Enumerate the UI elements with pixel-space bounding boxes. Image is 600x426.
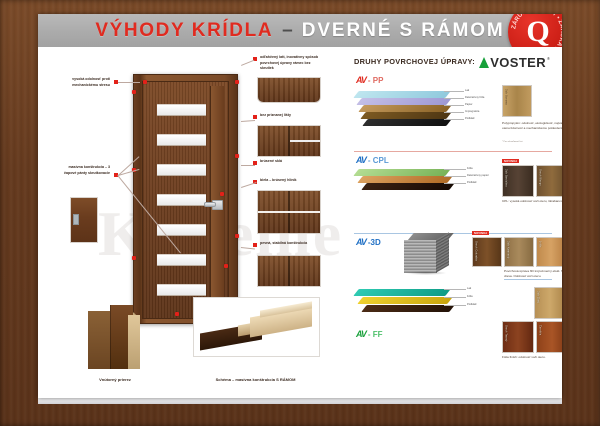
annotation-right-3: brúsené sklá (260, 159, 322, 165)
leader-line (241, 247, 255, 249)
section-description-3d: Povrchová úprava 3D trojrozmerný efekt. … (504, 269, 562, 279)
glass-slat (157, 254, 206, 266)
callout-dot (235, 154, 239, 158)
section-description-pp: Polypropylén: odolnosť, ekologickosť, na… (502, 121, 562, 131)
layer-cpl-1 (357, 176, 452, 183)
callout-dot (132, 90, 136, 94)
layer-pp-0 (353, 91, 450, 98)
leader-line (241, 182, 257, 188)
door-handle (204, 200, 221, 208)
section-divider-pp (354, 151, 552, 152)
block-3d-side (436, 232, 449, 273)
swatch-cpl-1[interactable]: Orech Wenge (536, 165, 562, 197)
section-divider-3d (504, 279, 552, 280)
swatch-3d-1[interactable]: Dub Kamenný (504, 237, 534, 267)
av-mark-ff: AV (356, 329, 366, 339)
layer-pp-2 (358, 105, 451, 112)
annotation-bullet (253, 115, 257, 119)
av-mark-3d: AV (356, 237, 366, 247)
detail-thumbnail-aluminium (257, 190, 321, 234)
section-description-ff: Fólia finish: odolnosť voči oteru. (502, 355, 562, 360)
schema-illustration (193, 297, 320, 357)
block-3d-shadow (405, 271, 447, 275)
layer-stack-cpl (356, 169, 468, 203)
handle-lever (204, 202, 216, 207)
callout-dot (132, 256, 136, 260)
brand-name: VOSTER (490, 55, 546, 70)
section-name-pp: - PP (368, 76, 384, 85)
block-3d-render (404, 233, 450, 273)
section-name-cpl: - CPL (368, 156, 389, 165)
callout-dot (224, 264, 228, 268)
bottom-figure-caption-1: Vnútorný prierez (78, 377, 152, 382)
section-footnote-pp: * Pre schvaľovací list. (502, 141, 523, 143)
brand-logo: VOSTER ® (479, 55, 550, 70)
av-mark-cpl: AV (356, 155, 366, 165)
callout-dot (235, 80, 239, 84)
title-dash: – (282, 20, 293, 42)
block-3d-front (404, 240, 437, 273)
section-name-3d: -3D (368, 238, 381, 247)
bottom-figure-schema: Schéma – masívna konštrukcia S RÁMOM (193, 297, 318, 357)
section-label-ff: AV - FF (356, 329, 383, 339)
layer-cpl-0 (353, 169, 450, 176)
annotation-right-2: bez priznanej lišty (260, 113, 322, 119)
glass-slat (157, 104, 206, 116)
swatch-3d-2[interactable]: Jelša (536, 237, 562, 267)
swatch-cpl-0[interactable]: Dub Bardolino (502, 165, 534, 197)
callout-dot (235, 234, 239, 238)
poster-header: VÝHODY KRÍDLA – DVERNÉ S RÁMOM (38, 14, 562, 47)
annotation-right-4: biela – brúsený hliník (260, 178, 322, 184)
page-title-white: DVERNÉ S RÁMOM (302, 20, 505, 42)
detail-thumbnail-construction (257, 255, 321, 287)
callout-dot (175, 312, 179, 316)
glass-slat (157, 164, 206, 176)
door-illustration (133, 74, 238, 324)
annotation-right-5: pevná, stabilná konštrukcia (260, 241, 322, 247)
layer-3d-2 (361, 305, 454, 312)
section-label-3d: AV -3D (356, 237, 381, 247)
layer-pp-3 (360, 112, 451, 119)
annotation-left-1: vysoká odolnosť proti mechanickému stres… (58, 77, 110, 88)
layer-pp-4 (362, 119, 451, 126)
leader-line (118, 82, 140, 83)
section-label-pp: AV - PP (356, 75, 383, 85)
swatch-pp-0[interactable]: Dub Sonoma (502, 85, 532, 117)
swatch-3d-0[interactable]: Orech Columbia (472, 237, 502, 267)
poster-frame: VÝHODY KRÍDLA – DVERNÉ S RÁMOM ZÁRUKA KV… (0, 0, 600, 426)
av-mark-pp: AV (356, 75, 366, 85)
layer-3d-1 (357, 297, 452, 304)
callout-dot (220, 192, 224, 196)
section-label-cpl: AV - CPL (356, 155, 389, 165)
section-description-cpl: CPL: vysoká odolnosť voči oteru, škraban… (502, 199, 562, 204)
swatch-ff-0[interactable]: Dub Zlatý (534, 287, 562, 319)
callout-dot (143, 80, 147, 84)
detail-thumbnail-hinge (70, 197, 98, 243)
section-name-ff: - FF (368, 330, 383, 339)
layer-stack-3d (356, 289, 468, 323)
panel-title: DRUHY POVRCHOVEJ ÚPRAVY: (354, 57, 475, 66)
layer-cpl-2 (361, 183, 454, 190)
page-title-red: VÝHODY KRÍDLA (95, 20, 273, 42)
annotation-right-1: odľahčený latt, inovatívny spôsob povrch… (260, 55, 320, 72)
voster-triangle-icon (479, 57, 489, 68)
registered-mark: ® (547, 56, 550, 61)
leader-line (241, 165, 255, 166)
bottom-figure-cross-section: Vnútorný prierez (88, 305, 162, 369)
annotation-left-2: masívna konštrukcia – 3 čapové pánty skr… (56, 165, 110, 176)
door-leaf (142, 81, 229, 319)
badge-novinka-3d-0: NOVINKA (472, 231, 489, 235)
annotation-bullet (253, 243, 257, 247)
badge-novinka-cpl: NOVINKA (502, 159, 519, 163)
bottom-figure-caption-2: Schéma – masívna konštrukcia S RÁMOM (193, 377, 318, 382)
glass-slat (157, 284, 206, 296)
detail-thumbnail-rail (257, 77, 321, 103)
poster-sheet: VÝHODY KRÍDLA – DVERNÉ S RÁMOM ZÁRUKA KV… (38, 14, 562, 398)
glass-slat (157, 134, 206, 146)
jamb-illustration (88, 305, 142, 369)
swatch-ff-2[interactable]: Orech Tmavý (502, 321, 534, 353)
swatch-ff-3[interactable]: Čerešňa (536, 321, 562, 353)
jamb-part-c (128, 315, 140, 369)
layer-3d-0 (353, 289, 450, 296)
leader-line (241, 60, 254, 66)
layer-pp-1 (356, 98, 451, 105)
door-diagram-panel: Kupelne.sk (38, 47, 344, 398)
detail-thumbnail-nolisting (257, 125, 321, 157)
surface-finish-panel: DRUHY POVRCHOVEJ ÚPRAVY: VOSTER ® AV - P… (344, 47, 562, 398)
glass-slat (157, 194, 206, 206)
leader-line (241, 120, 255, 122)
